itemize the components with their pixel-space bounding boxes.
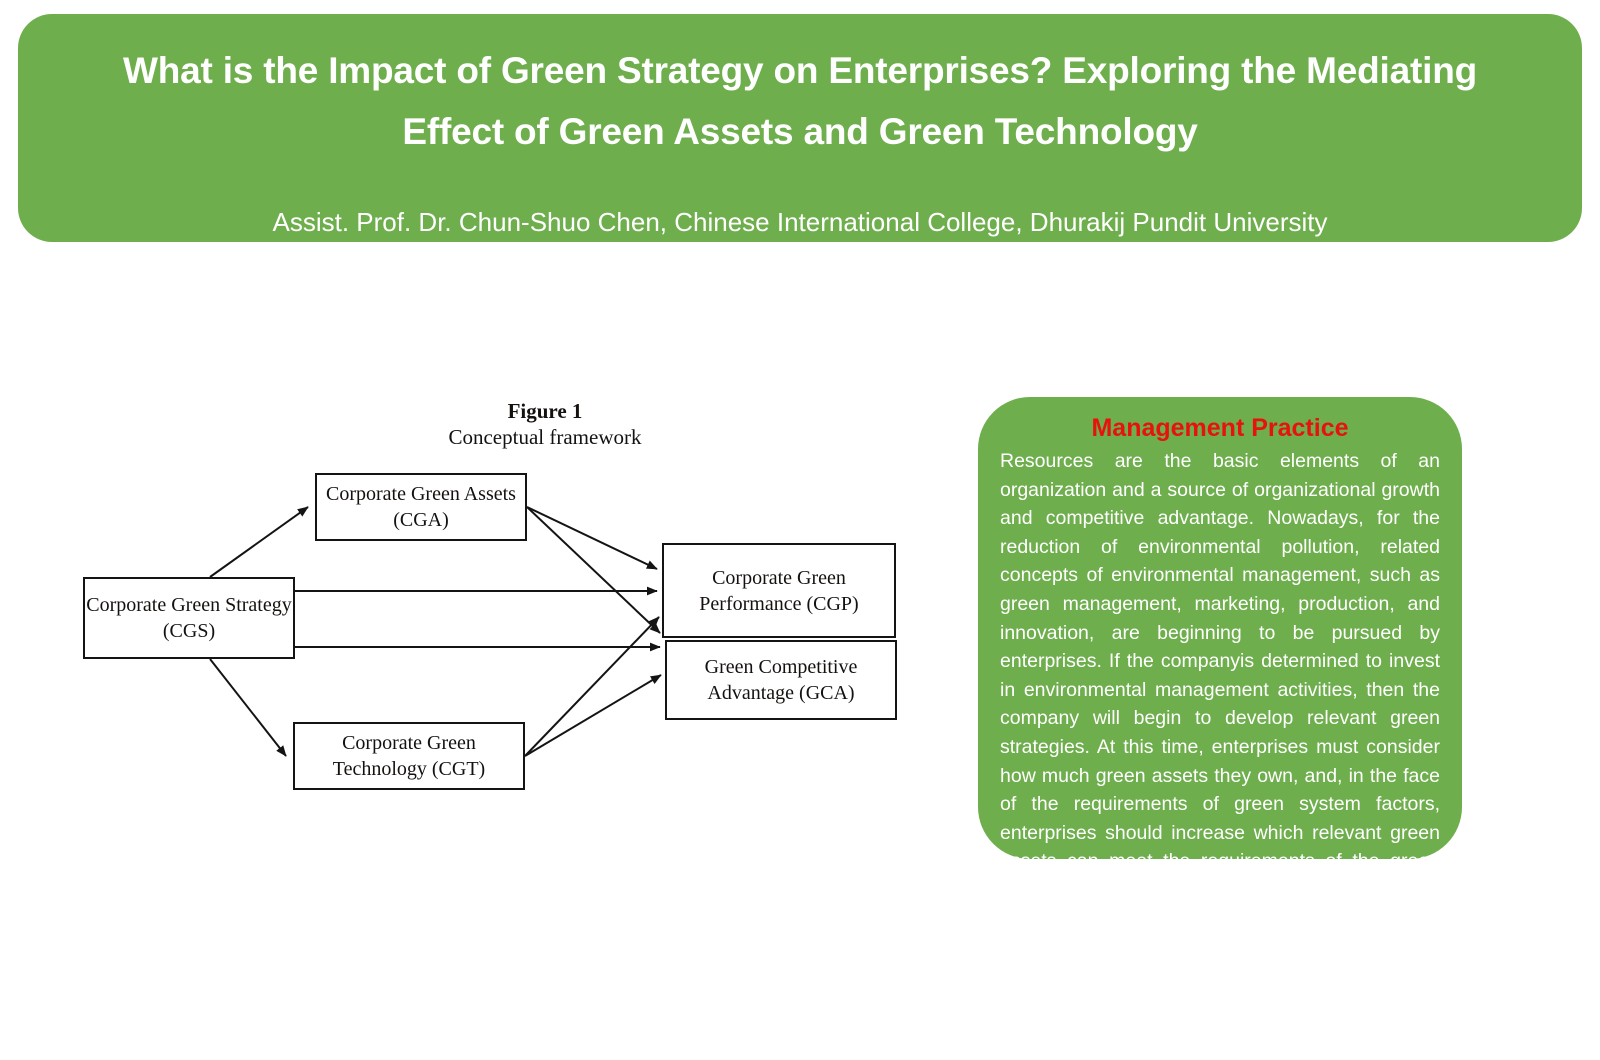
arrow-cgt-to-cgp bbox=[525, 617, 659, 756]
page-title: What is the Impact of Green Strategy on … bbox=[66, 40, 1534, 162]
management-practice-panel: Management Practice Resources are the ba… bbox=[978, 397, 1462, 859]
arrow-cgt-to-gca bbox=[525, 675, 661, 756]
node-corporate-green-assets: Corporate Green Assets (CGA) bbox=[315, 473, 527, 541]
node-corporate-green-performance: Corporate Green Performance (CGP) bbox=[662, 543, 896, 638]
node-label: Corporate Green Performance (CGP) bbox=[664, 565, 894, 617]
node-corporate-green-technology: Corporate Green Technology (CGT) bbox=[293, 722, 525, 790]
arrow-cgs-to-cgt bbox=[210, 659, 286, 756]
poster-header-banner: What is the Impact of Green Strategy on … bbox=[18, 14, 1582, 242]
node-label: Corporate Green Strategy (CGS) bbox=[85, 592, 293, 644]
management-practice-heading: Management Practice bbox=[1000, 411, 1440, 445]
arrow-cgs-to-cga bbox=[210, 507, 308, 577]
node-green-competitive-advantage: Green Competitive Advantage (GCA) bbox=[665, 640, 897, 720]
node-label: Corporate Green Technology (CGT) bbox=[295, 730, 523, 782]
arrow-cga-to-gca bbox=[527, 507, 660, 633]
management-practice-body: Resources are the basic elements of an o… bbox=[1000, 445, 1440, 905]
conceptual-framework-figure: Figure 1 Conceptual framework bbox=[60, 385, 940, 815]
author-affiliation: Assist. Prof. Dr. Chun-Shuo Chen, Chines… bbox=[66, 162, 1534, 238]
arrow-cga-to-cgp bbox=[527, 507, 657, 569]
node-label: Green Competitive Advantage (GCA) bbox=[667, 654, 895, 706]
node-corporate-green-strategy: Corporate Green Strategy (CGS) bbox=[83, 577, 295, 659]
node-label: Corporate Green Assets (CGA) bbox=[317, 481, 525, 533]
